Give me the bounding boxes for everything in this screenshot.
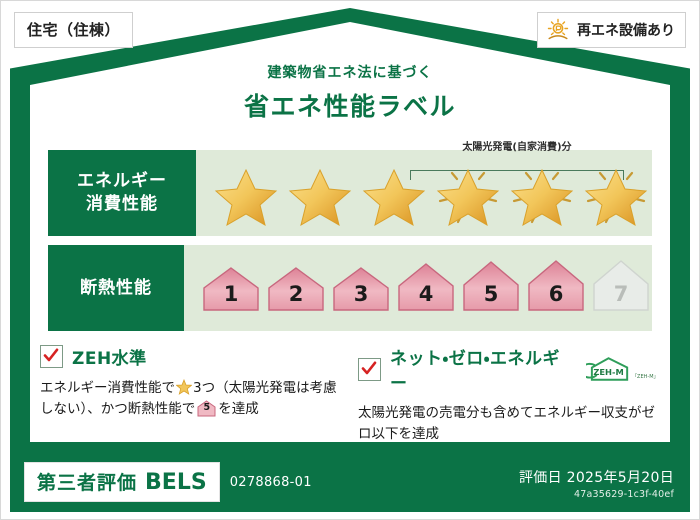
criteria-nze-header: ネット・ゼロ・エネルギー ZEH-M 「ZEH-M」 — [358, 344, 658, 394]
certificate-number: 0278868-01 — [230, 475, 312, 490]
energy-label-line2: 消費性能 — [86, 193, 158, 216]
check-icon — [361, 361, 377, 376]
bels-en-label: BELS — [145, 470, 207, 495]
insulation-level-house-icon: 6 — [525, 258, 587, 318]
renewable-equipment-label: 再エネ設備あり — [577, 20, 675, 40]
inline-insulation-badge: 5 — [197, 400, 216, 417]
bels-badge: 第三者評価 BELS — [24, 462, 220, 502]
star-solar-icon — [506, 161, 578, 231]
nze-checkbox[interactable] — [358, 358, 381, 381]
insulation-level-house-icon: 4 — [395, 258, 457, 318]
insulation-level-house-icon: 2 — [265, 258, 327, 318]
renewable-equipment-badge: 再エネ設備あり — [537, 12, 686, 48]
zeh-m-logo-caption: 「ZEH-M」 — [632, 373, 658, 380]
star-icon — [358, 161, 430, 231]
insulation-level-number: 5 — [460, 282, 522, 306]
check-icon — [43, 348, 59, 363]
insulation-level-number: 3 — [330, 282, 392, 306]
star-icon — [210, 161, 282, 231]
insulation-level-house-icon: 5 — [460, 258, 522, 318]
insulation-level-number: 4 — [395, 282, 457, 306]
zeh-checkbox[interactable] — [40, 345, 63, 368]
building-type-label: 住宅（住棟） — [27, 21, 120, 39]
insulation-level-list: 1 2 3 4 5 — [184, 258, 652, 318]
footer-bels-block: 第三者評価 BELS 0278868-01 — [24, 462, 312, 502]
insulation-level-number: 2 — [265, 282, 327, 306]
zeh-m-logo-icon: ZEH-M 「ZEH-M」 — [586, 356, 658, 382]
evaluation-hash: 47a35629-1c3f-40ef — [519, 489, 674, 500]
insulation-performance-label: 断熱性能 — [48, 245, 184, 331]
criteria-zeh: ZEH水準 エネルギー消費性能で3つ（太陽光発電は考慮しない）、かつ断熱性能で5… — [40, 344, 340, 445]
energy-label-line1: エネルギー — [77, 170, 167, 193]
insulation-level-house-icon: 1 — [200, 258, 262, 318]
energy-stars-panel: 太陽光発電(自家消費)分 — [196, 150, 652, 236]
insulation-level-house-icon: 3 — [330, 258, 392, 318]
criteria-section: ZEH水準 エネルギー消費性能で3つ（太陽光発電は考慮しない）、かつ断熱性能で5… — [40, 344, 660, 445]
title-main: 省エネ性能ラベル — [0, 87, 700, 123]
criteria-zeh-header: ZEH水準 — [40, 344, 340, 369]
insulation-label-text: 断熱性能 — [80, 277, 152, 300]
criteria-nze-text: 太陽光発電の売電分も含めてエネルギー収支がゼロ以下を達成 — [358, 403, 658, 445]
inline-insulation-number: 5 — [197, 403, 216, 413]
criteria-zeh-text-c: を達成 — [218, 401, 259, 417]
star-solar-icon — [580, 161, 652, 231]
insulation-level-number: 7 — [590, 282, 652, 306]
insulation-level-house-icon-inactive: 7 — [590, 258, 652, 318]
solar-sun-icon — [546, 18, 570, 42]
star-solar-icon — [432, 161, 504, 231]
building-type-badge: 住宅（住棟） — [14, 12, 133, 48]
star-icon — [284, 161, 356, 231]
criteria-nze: ネット・ゼロ・エネルギー ZEH-M 「ZEH-M」 太陽光発電の売電分も含めて… — [358, 344, 658, 445]
star-rating — [196, 155, 652, 231]
energy-performance-label: エネルギー 消費性能 — [48, 150, 196, 236]
energy-performance-label: 住宅（住棟） 再エネ設備あり 建築物省エネ法に基づく — [0, 0, 700, 520]
bels-jp-label: 第三者評価 — [37, 468, 137, 495]
inline-star-icon — [176, 379, 192, 395]
criteria-zeh-title: ZEH水準 — [72, 344, 147, 369]
title-subtitle: 建築物省エネ法に基づく — [0, 62, 700, 82]
insulation-performance-row: 断熱性能 1 2 — [48, 245, 652, 331]
criteria-zeh-text: エネルギー消費性能で3つ（太陽光発電は考慮しない）、かつ断熱性能で5を達成 — [40, 378, 340, 420]
evaluation-date-value: 2025年5月20日 — [567, 470, 674, 486]
energy-performance-row: エネルギー 消費性能 太陽光発電(自家消費)分 — [48, 150, 652, 236]
evaluation-date-label: 評価日 — [519, 470, 562, 486]
insulation-level-number: 1 — [200, 282, 262, 306]
evaluation-date: 評価日 2025年5月20日 — [519, 467, 674, 487]
insulation-levels-panel: 1 2 3 4 5 — [184, 245, 652, 331]
criteria-nze-title: ネット・ゼロ・エネルギー — [390, 344, 574, 394]
solar-bracket-caption: 太陽光発電(自家消費)分 — [410, 138, 624, 153]
footer-eval-block: 評価日 2025年5月20日 47a35629-1c3f-40ef — [519, 467, 674, 500]
criteria-zeh-text-a: エネルギー消費性能で — [40, 380, 175, 396]
label-title-block: 建築物省エネ法に基づく 省エネ性能ラベル — [0, 62, 700, 123]
rating-rows: エネルギー 消費性能 太陽光発電(自家消費)分 — [48, 150, 652, 340]
insulation-level-number: 6 — [525, 282, 587, 306]
svg-text:ZEH-M: ZEH-M — [593, 367, 623, 377]
